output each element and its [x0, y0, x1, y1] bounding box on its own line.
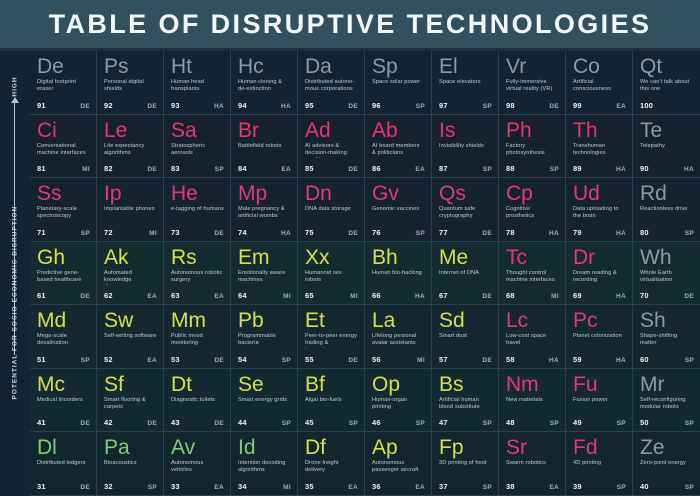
technology-cell[interactable]: HcHuman cloning & de-extinction94HA: [231, 51, 298, 114]
element-tag: DE: [482, 230, 492, 237]
element-footer: 91DE: [37, 101, 90, 110]
technology-cell[interactable]: ZeZero-point energy40SP: [633, 432, 700, 495]
element-tag: DE: [348, 357, 358, 364]
element-number: 46: [372, 418, 381, 427]
element-footer: 96SP: [372, 101, 425, 110]
element-symbol: Ab: [372, 120, 425, 142]
element-symbol: Md: [37, 310, 90, 332]
element-symbol: Bh: [372, 247, 425, 269]
technology-cell[interactable]: EtPeer-to-peer energy trading & transmis…: [298, 305, 365, 368]
technology-cell[interactable]: RsAutonomous robotic surgery63EA: [164, 242, 231, 305]
element-number: 52: [104, 355, 113, 364]
element-number: 82: [104, 164, 113, 173]
element-footer: 76SP: [372, 228, 425, 237]
element-description: Reactionless drive: [640, 206, 694, 221]
element-description: Genomic vaccines: [372, 206, 425, 221]
element-symbol: Le: [104, 120, 157, 142]
element-number: 100: [640, 101, 653, 110]
technology-cell[interactable]: DfDrone freight delivery35EA: [298, 432, 365, 495]
technology-cell[interactable]: HtHuman head transplants93HA: [164, 51, 231, 114]
element-footer: 34MI: [238, 482, 291, 491]
technology-cell[interactable]: GvGenomic vaccines76SP: [365, 178, 432, 241]
element-footer: 61DE: [37, 291, 90, 300]
element-tag: HA: [549, 230, 559, 237]
element-symbol: Pa: [104, 437, 157, 459]
element-footer: 77DE: [439, 228, 492, 237]
element-number: 62: [104, 291, 113, 300]
technology-cell[interactable]: SdSmart dust57DE: [432, 305, 499, 368]
element-footer: 63EA: [171, 291, 224, 300]
element-footer: 100: [640, 101, 694, 110]
element-description: Cognitive prosthetics: [506, 206, 559, 221]
element-tag: EA: [549, 484, 559, 491]
element-tag: MI: [149, 230, 157, 237]
technology-cell[interactable]: PbProgrammable bacteria54SP: [231, 305, 298, 368]
element-description: New materials: [506, 397, 559, 412]
technology-cell[interactable]: SrSwarm robotics38EA: [499, 432, 566, 495]
element-symbol: Mm: [171, 310, 224, 332]
element-description: Digital footprint eraser: [37, 79, 90, 94]
technology-cell[interactable]: SsPlanetary-scale spectroscopy71SP: [30, 178, 97, 241]
technology-cell[interactable]: DaDistributed autono-mous corporations95…: [298, 51, 365, 114]
element-number: 88: [506, 164, 515, 173]
element-number: 51: [37, 355, 46, 364]
element-description: Autonomous robotic surgery: [171, 270, 224, 285]
element-description: Battlefield robots: [238, 143, 291, 158]
element-symbol: Id: [238, 437, 291, 459]
element-tag: MI: [283, 293, 291, 300]
element-footer: 52EA: [104, 355, 157, 364]
page-title: TABLE OF DISRUPTIVE TECHNOLOGIES: [49, 9, 652, 40]
element-footer: 55DE: [305, 355, 358, 364]
technology-cell[interactable]: LaLifelong personal avatar assistants56M…: [365, 305, 432, 368]
element-description: Shape-shifting matter: [640, 333, 694, 348]
technology-cell[interactable]: DlDistributed ledgers31DE: [30, 432, 97, 495]
element-description: Personal digital shields: [104, 79, 157, 94]
element-symbol: Mp: [238, 183, 291, 205]
technology-cell[interactable]: IpImplantable phones72MI: [97, 178, 164, 241]
element-symbol: Ad: [305, 120, 358, 142]
element-symbol: Th: [573, 120, 626, 142]
element-number: 42: [104, 418, 113, 427]
element-footer: 89HA: [573, 164, 626, 173]
element-number: 81: [37, 164, 46, 173]
element-number: 59: [573, 355, 582, 364]
element-tag: SP: [81, 230, 90, 237]
element-footer: 49SP: [573, 418, 626, 427]
element-symbol: Br: [238, 120, 291, 142]
element-tag: EA: [147, 293, 157, 300]
element-tag: HA: [684, 166, 694, 173]
element-symbol: Pb: [238, 310, 291, 332]
element-tag: EA: [348, 484, 358, 491]
element-symbol: El: [439, 56, 492, 78]
element-symbol: Et: [305, 310, 358, 332]
element-tag: SP: [81, 357, 90, 364]
element-number: 94: [238, 101, 247, 110]
element-number: 84: [238, 164, 247, 173]
vertical-axis: HIGH POTENTIAL FOR SOCIO-ECONOMIC DISRUP…: [0, 51, 30, 484]
element-symbol: Sd: [439, 310, 492, 332]
element-number: 49: [573, 418, 582, 427]
element-symbol: Qs: [439, 183, 492, 205]
element-number: 71: [37, 228, 46, 237]
element-symbol: Fu: [573, 374, 626, 396]
element-description: Human bio-hacking: [372, 270, 425, 285]
element-symbol: Sf: [104, 374, 157, 396]
element-footer: 94HA: [238, 101, 291, 110]
technology-cell[interactable]: AdAI advisors & decision-making machines…: [298, 115, 365, 178]
technology-cell[interactable]: PcPlanet colonization59HA: [566, 305, 633, 368]
element-tag: SP: [282, 357, 291, 364]
element-symbol: Ps: [104, 56, 157, 78]
element-tag: DE: [80, 420, 90, 427]
technology-cell[interactable]: XxHumanoid sex robots65MI: [298, 242, 365, 305]
element-tag: DE: [348, 166, 358, 173]
element-footer: 98DE: [506, 101, 559, 110]
element-number: 64: [238, 291, 247, 300]
technology-cell[interactable]: SeSmart energy grids44SP: [231, 369, 298, 432]
element-footer: 78HA: [506, 228, 559, 237]
element-footer: 64MI: [238, 291, 291, 300]
element-footer: 92DE: [104, 101, 157, 110]
element-number: 56: [372, 355, 381, 364]
element-symbol: Mc: [37, 374, 90, 396]
element-number: 75: [305, 228, 314, 237]
element-description: 3D printing of food: [439, 460, 492, 475]
technology-cell[interactable]: CpCognitive prosthetics78HA: [499, 178, 566, 241]
technology-cell[interactable]: WhWhole Earth virtualisation70DE: [633, 242, 700, 305]
technology-cell[interactable]: PsPersonal digital shields92DE: [97, 51, 164, 114]
element-description: Smart energy grids: [238, 397, 291, 412]
element-description: Life expectancy algorithms: [104, 143, 157, 158]
element-tag: DE: [348, 230, 358, 237]
element-tag: HA: [214, 103, 224, 110]
element-footer: 85DE: [305, 164, 358, 173]
element-footer: 42DE: [104, 418, 157, 427]
element-description: Autonomous vehicles: [171, 460, 224, 475]
technology-cell[interactable]: DrDream reading & recording69HA: [566, 242, 633, 305]
element-description: Artificial human blood substitute: [439, 397, 492, 412]
technology-cell[interactable]: LeLife expectancy algorithms82DE: [97, 115, 164, 178]
element-footer: 84EA: [238, 164, 291, 173]
element-description: Public mood monitoring: [171, 333, 224, 348]
element-description: Self-writing software: [104, 333, 157, 348]
element-number: 55: [305, 355, 314, 364]
element-tag: MI: [350, 293, 358, 300]
element-footer: 82DE: [104, 164, 157, 173]
technology-cell[interactable]: LcLow-cost space travel58HA: [499, 305, 566, 368]
technology-cell[interactable]: ShShape-shifting matter60SP: [633, 305, 700, 368]
element-footer: 45SP: [305, 418, 358, 427]
element-tag: SP: [483, 166, 492, 173]
technology-cell[interactable]: TcThought control machine interfaces68MI: [499, 242, 566, 305]
element-symbol: Vr: [506, 56, 559, 78]
technology-cell[interactable]: FuFusion power49SP: [566, 369, 633, 432]
element-number: 68: [506, 291, 515, 300]
element-footer: 79HA: [573, 228, 626, 237]
element-number: 80: [640, 228, 649, 237]
element-symbol: Te: [640, 120, 694, 142]
element-footer: 57DE: [439, 355, 492, 364]
element-number: 32: [104, 482, 113, 491]
technology-cell[interactable]: ElSpace elevators97SP: [432, 51, 499, 114]
technology-cell[interactable]: ThTranshuman technologies89HA: [566, 115, 633, 178]
element-tag: DE: [214, 420, 224, 427]
element-tag: SP: [617, 420, 626, 427]
technology-cell[interactable]: BhHuman bio-hacking66HA: [365, 242, 432, 305]
table-row: DlDistributed ledgers31DEPaBioacoustics3…: [30, 432, 700, 496]
element-tag: SP: [685, 357, 694, 364]
element-description: Telepathy: [640, 143, 694, 158]
technology-cell[interactable]: EmEmotionally aware machines64MI: [231, 242, 298, 305]
element-description: Internet of DNA: [439, 270, 492, 285]
element-footer: 40SP: [640, 482, 694, 491]
element-number: 43: [171, 418, 180, 427]
element-symbol: Dn: [305, 183, 358, 205]
technology-cell[interactable]: PaBioacoustics32SP: [97, 432, 164, 495]
element-tag: SP: [148, 484, 157, 491]
technology-cell[interactable]: RdReactionless drive80SP: [633, 178, 700, 241]
element-symbol: Bf: [305, 374, 358, 396]
element-description: Predictive gene-based healthcare: [37, 270, 90, 285]
element-description: Male pregnancy & artificial wombs: [238, 206, 291, 221]
technology-cell[interactable]: BrBattlefield robots84EA: [231, 115, 298, 178]
technology-cell[interactable]: AkAutomated knowledge discovery62EA: [97, 242, 164, 305]
element-number: 95: [305, 101, 314, 110]
element-footer: 60SP: [640, 355, 694, 364]
element-symbol: Em: [238, 247, 291, 269]
element-footer: 37SP: [439, 482, 492, 491]
element-footer: 81MI: [37, 164, 90, 173]
technology-cell[interactable]: SwSelf-writing software52EA: [97, 305, 164, 368]
technology-cell[interactable]: Fd4D printing39SP: [566, 432, 633, 495]
technology-cell[interactable]: QsQuantum safe cryptography77DE: [432, 178, 499, 241]
element-description: Space elevators: [439, 79, 492, 94]
technology-cell[interactable]: IdIntention decoding algorithms34MI: [231, 432, 298, 495]
element-footer: 95DE: [305, 101, 358, 110]
element-footer: 88SP: [506, 164, 559, 173]
technology-cell[interactable]: McMedical tricorders41DE: [30, 369, 97, 432]
element-description: Peer-to-peer energy trading & transmissi…: [305, 333, 358, 348]
technology-cell[interactable]: MpMale pregnancy & artificial wombs74HA: [231, 178, 298, 241]
element-footer: 69HA: [573, 291, 626, 300]
element-footer: 44SP: [238, 418, 291, 427]
technology-cell[interactable]: DeDigital footprint eraser91DE: [30, 51, 97, 114]
element-tag: EA: [214, 293, 224, 300]
element-tag: HA: [281, 103, 291, 110]
element-number: 96: [372, 101, 381, 110]
element-tag: HA: [415, 293, 425, 300]
element-description: Humanoid sex robots: [305, 270, 358, 285]
technology-cell[interactable]: IsInvisibility shields87SP: [432, 115, 499, 178]
technology-cell[interactable]: UdData uploading to the brain79HA: [566, 178, 633, 241]
element-description: Smart dust: [439, 333, 492, 348]
technology-cell[interactable]: BfAlgal bio-fuels45SP: [298, 369, 365, 432]
element-tag: DE: [147, 166, 157, 173]
element-tag: DE: [214, 357, 224, 364]
technology-cell[interactable]: BsArtificial human blood substitute47SP: [432, 369, 499, 432]
element-number: 50: [640, 418, 649, 427]
element-description: 4D printing: [573, 460, 626, 475]
element-symbol: Se: [238, 374, 291, 396]
element-tag: SP: [550, 166, 559, 173]
element-description: Mega-scale desalination: [37, 333, 90, 348]
element-description: Fusion power: [573, 397, 626, 412]
element-symbol: Gv: [372, 183, 425, 205]
element-symbol: Sa: [171, 120, 224, 142]
element-symbol: Lc: [506, 310, 559, 332]
element-number: 85: [305, 164, 314, 173]
technology-cell[interactable]: NmNew materials48SP: [499, 369, 566, 432]
element-symbol: Ci: [37, 120, 90, 142]
element-footer: 35EA: [305, 482, 358, 491]
element-footer: 86EA: [372, 164, 425, 173]
technology-cell[interactable]: OpHuman-organ printing46SP: [365, 369, 432, 432]
element-number: 39: [573, 482, 582, 491]
technology-cell[interactable]: AvAutonomous vehicles33EA: [164, 432, 231, 495]
table-row: McMedical tricorders41DESfSmart flooring…: [30, 369, 700, 433]
technology-cell[interactable]: VrFully-immersive virtual reality (VR)98…: [499, 51, 566, 114]
technology-cell[interactable]: MrSelf-reconfiguring modular robots50SP: [633, 369, 700, 432]
element-footer: 66HA: [372, 291, 425, 300]
element-description: Implantable phones: [104, 206, 157, 221]
element-tag: SP: [550, 420, 559, 427]
element-number: 54: [238, 355, 247, 364]
element-description: Low-cost space travel: [506, 333, 559, 348]
element-footer: 90HA: [640, 164, 694, 173]
element-symbol: Ak: [104, 247, 157, 269]
element-tag: SP: [282, 420, 291, 427]
element-symbol: Tc: [506, 247, 559, 269]
element-number: 97: [439, 101, 448, 110]
element-symbol: Bs: [439, 374, 492, 396]
element-description: Thought control machine interfaces: [506, 270, 559, 285]
element-number: 98: [506, 101, 515, 110]
element-symbol: Me: [439, 247, 492, 269]
element-number: 65: [305, 291, 314, 300]
element-description: Drone freight delivery: [305, 460, 358, 475]
element-number: 31: [37, 482, 46, 491]
element-number: 41: [37, 418, 46, 427]
technology-cell[interactable]: SaStratospheric aerosols83SP: [164, 115, 231, 178]
element-footer: 39SP: [573, 482, 626, 491]
element-symbol: Wh: [640, 247, 694, 269]
element-footer: 46SP: [372, 418, 425, 427]
technology-cell[interactable]: AbAI board members & politicians86EA: [365, 115, 432, 178]
technology-cell[interactable]: Fp3D printing of food37SP: [432, 432, 499, 495]
technology-cell[interactable]: ApAutonomous passenger aircraft36EA: [365, 432, 432, 495]
element-description: AI board members & politicians: [372, 143, 425, 158]
element-footer: 72MI: [104, 228, 157, 237]
technology-cell[interactable]: CoArtificial consciousness99EA: [566, 51, 633, 114]
element-tag: MI: [551, 293, 559, 300]
technology-grid: DeDigital footprint eraser91DEPsPersonal…: [30, 51, 700, 484]
element-description: DNA data storage: [305, 206, 358, 221]
element-symbol: Df: [305, 437, 358, 459]
table-row: CiConversational machine interfaces81MIL…: [30, 115, 700, 179]
element-footer: 58HA: [506, 355, 559, 364]
element-symbol: La: [372, 310, 425, 332]
technology-cell[interactable]: MeInternet of DNA67DE: [432, 242, 499, 305]
element-footer: 71SP: [37, 228, 90, 237]
element-footer: 73DE: [171, 228, 224, 237]
element-symbol: Ph: [506, 120, 559, 142]
element-tag: EA: [281, 166, 291, 173]
element-tag: SP: [483, 103, 492, 110]
element-tag: SP: [617, 484, 626, 491]
element-tag: SP: [416, 420, 425, 427]
technology-cell[interactable]: GhPredictive gene-based healthcare61DE: [30, 242, 97, 305]
element-symbol: Mr: [640, 374, 694, 396]
technology-cell[interactable]: QtWe can't talk about this one100: [633, 51, 700, 114]
element-tag: MI: [417, 357, 425, 364]
element-symbol: Ap: [372, 437, 425, 459]
technology-cell[interactable]: DnDNA data storage75DE: [298, 178, 365, 241]
element-symbol: Hc: [238, 56, 291, 78]
table-row: SsPlanetary-scale spectroscopy71SPIpImpl…: [30, 178, 700, 242]
element-tag: DE: [482, 357, 492, 364]
technology-cell[interactable]: MdMega-scale desalination51SP: [30, 305, 97, 368]
element-number: 89: [573, 164, 582, 173]
element-number: 77: [439, 228, 448, 237]
element-symbol: Ss: [37, 183, 90, 205]
element-footer: 97SP: [439, 101, 492, 110]
element-description: Lifelong personal avatar assistants: [372, 333, 425, 348]
element-symbol: Op: [372, 374, 425, 396]
element-symbol: Co: [573, 56, 626, 78]
element-number: 48: [506, 418, 515, 427]
element-symbol: Da: [305, 56, 358, 78]
technology-cell[interactable]: PhFactory photosynthesis88SP: [499, 115, 566, 178]
element-symbol: Fp: [439, 437, 492, 459]
element-tag: DE: [482, 293, 492, 300]
element-footer: 33EA: [171, 482, 224, 491]
element-symbol: Dt: [171, 374, 224, 396]
technology-cell[interactable]: MmPublic mood monitoring53DE: [164, 305, 231, 368]
element-symbol: Sw: [104, 310, 157, 332]
element-description: Programmable bacteria: [238, 333, 291, 348]
technology-cell[interactable]: SfSmart flooring & carpets42DE: [97, 369, 164, 432]
element-number: 92: [104, 101, 113, 110]
technology-cell[interactable]: Hee-tagging of humans73DE: [164, 178, 231, 241]
element-symbol: Sr: [506, 437, 559, 459]
element-footer: 74HA: [238, 228, 291, 237]
technology-cell[interactable]: SpSpace solar power96SP: [365, 51, 432, 114]
element-footer: 43DE: [171, 418, 224, 427]
element-description: Factory photosynthesis: [506, 143, 559, 158]
element-number: 86: [372, 164, 381, 173]
element-symbol: Cp: [506, 183, 559, 205]
element-description: Conversational machine interfaces: [37, 143, 90, 158]
technology-cell[interactable]: DtDiagnostic toilets43DE: [164, 369, 231, 432]
element-footer: 62EA: [104, 291, 157, 300]
element-number: 93: [171, 101, 180, 110]
element-number: 69: [573, 291, 582, 300]
technology-cell[interactable]: CiConversational machine interfaces81MI: [30, 115, 97, 178]
element-description: Automated knowledge discovery: [104, 270, 157, 285]
table-row: GhPredictive gene-based healthcare61DEAk…: [30, 242, 700, 306]
element-description: Transhuman technologies: [573, 143, 626, 158]
element-description: Emotionally aware machines: [238, 270, 291, 285]
element-footer: 54SP: [238, 355, 291, 364]
element-description: Planet colonization: [573, 333, 626, 348]
element-description: Distributed ledgers: [37, 460, 90, 475]
element-tag: SP: [685, 420, 694, 427]
element-symbol: Sp: [372, 56, 425, 78]
element-number: 70: [640, 291, 649, 300]
technology-cell[interactable]: TeTelepathy90HA: [633, 115, 700, 178]
